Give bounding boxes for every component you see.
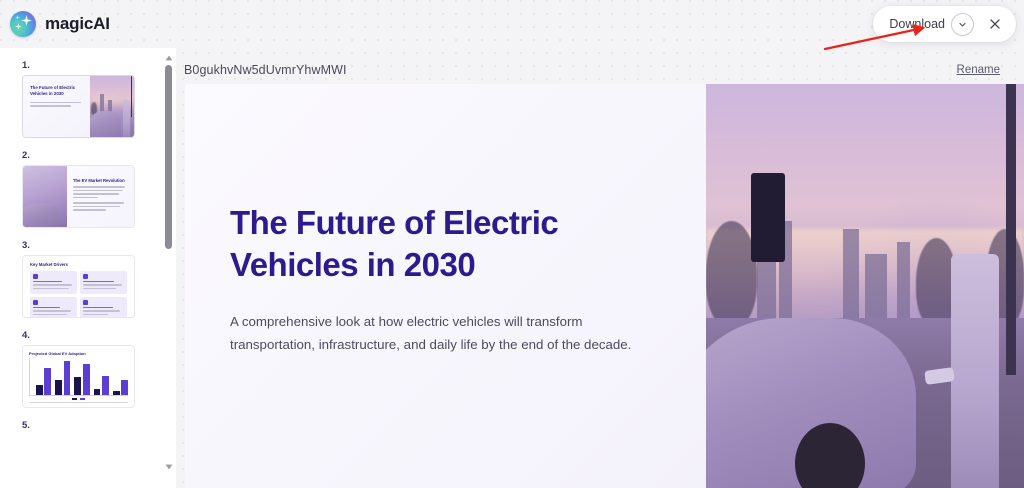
list-item[interactable]: 1. The Future of Electric Vehicles in 20… — [22, 60, 158, 138]
bar — [36, 385, 43, 395]
caret-up-icon[interactable] — [161, 51, 176, 65]
slide-number: 2. — [22, 150, 158, 161]
bar — [55, 380, 62, 395]
thumbnail-title: The Future of Electric Vehicles in 2030 — [30, 85, 85, 98]
slide-number: 4. — [22, 330, 158, 341]
presentation-viewer: magicAI Download 1. — [0, 0, 1024, 488]
slide-thumbnail-3[interactable]: Key Market Drivers — [22, 255, 135, 318]
thumbnail-body-lines — [30, 102, 85, 107]
caret-down-icon[interactable] — [161, 460, 176, 474]
slide-list: 1. The Future of Electric Vehicles in 20… — [0, 48, 158, 488]
legend-swatch-2030 — [80, 398, 85, 400]
card-icon — [83, 300, 88, 305]
thumbnail-text-block: The Future of Electric Vehicles in 2030 — [23, 76, 90, 137]
bar-group — [113, 358, 128, 395]
thumbnail-title: Key Market Drivers — [30, 262, 127, 267]
chart-caption-line — [29, 402, 128, 403]
top-bar: magicAI — [0, 0, 1024, 48]
thumbnail-card — [30, 271, 77, 294]
slide-thumbnail-1[interactable]: The Future of Electric Vehicles in 2030 — [22, 75, 135, 138]
slide-canvas[interactable]: The Future of Electric Vehicles in 2030 … — [185, 84, 1024, 488]
card-icon — [33, 274, 38, 279]
bar-group — [36, 358, 51, 395]
bar — [94, 389, 101, 394]
bar — [44, 368, 51, 395]
document-header: B0gukhvNw5dUvmrYhwMWI Rename — [176, 56, 1024, 84]
legend-swatch-2025 — [72, 398, 77, 400]
thumbnail-photo — [23, 166, 67, 227]
thumbnail-text-block: The EV Market Revolution — [67, 166, 134, 227]
sparkle-orb-icon — [10, 11, 36, 37]
page-title: The Future of Electric Vehicles in 2030 — [230, 202, 650, 285]
bar-group — [94, 358, 109, 395]
list-item[interactable]: 2. The EV Market Revolution — [22, 150, 158, 228]
card-icon — [33, 300, 38, 305]
rename-link[interactable]: Rename — [957, 64, 1000, 76]
thumbnail-card — [80, 271, 127, 294]
document-title: B0gukhvNw5dUvmrYhwMWI — [184, 63, 347, 77]
slide-number: 3. — [22, 240, 158, 251]
thumbnail-photo — [90, 76, 134, 137]
bar — [102, 376, 109, 395]
list-item[interactable]: 5. — [22, 420, 158, 431]
bar — [113, 391, 120, 394]
list-item[interactable]: 4. Projected Global EV Adoption — [22, 330, 158, 408]
scrollbar-track[interactable] — [165, 65, 172, 460]
thumbnail-title: Projected Global EV Adoption — [29, 351, 128, 356]
bar — [121, 380, 128, 395]
sidebar-scrollbar[interactable] — [161, 48, 176, 488]
thumbnail-card-grid — [30, 271, 127, 318]
slide-subtitle: A comprehensive look at how electric veh… — [230, 311, 650, 357]
slide-thumbnail-4[interactable]: Projected Global EV Adoption — [22, 345, 135, 408]
chart-legend — [29, 398, 128, 400]
bar — [64, 361, 71, 395]
thumbnail-bar-chart — [29, 358, 128, 396]
card-icon — [83, 274, 88, 279]
brand-name: magicAI — [45, 14, 110, 34]
thumbnail-card — [80, 297, 127, 318]
slide-thumbnail-sidebar[interactable]: 1. The Future of Electric Vehicles in 20… — [0, 48, 176, 488]
bar-group — [55, 358, 70, 395]
slide-number: 1. — [22, 60, 158, 71]
bar — [83, 364, 90, 395]
scrollbar-thumb[interactable] — [165, 65, 172, 249]
bar — [74, 377, 81, 394]
bar-group — [74, 358, 89, 395]
slide-thumbnail-2[interactable]: The EV Market Revolution — [22, 165, 135, 228]
slide-text-column: The Future of Electric Vehicles in 2030 … — [185, 84, 706, 488]
thumbnail-title: The EV Market Revolution — [73, 178, 128, 183]
thumbnail-card — [30, 297, 77, 318]
slide-number: 5. — [22, 420, 158, 431]
slide-hero-image — [706, 84, 1024, 488]
brand: magicAI — [10, 11, 110, 37]
list-item[interactable]: 3. Key Market Drivers — [22, 240, 158, 318]
